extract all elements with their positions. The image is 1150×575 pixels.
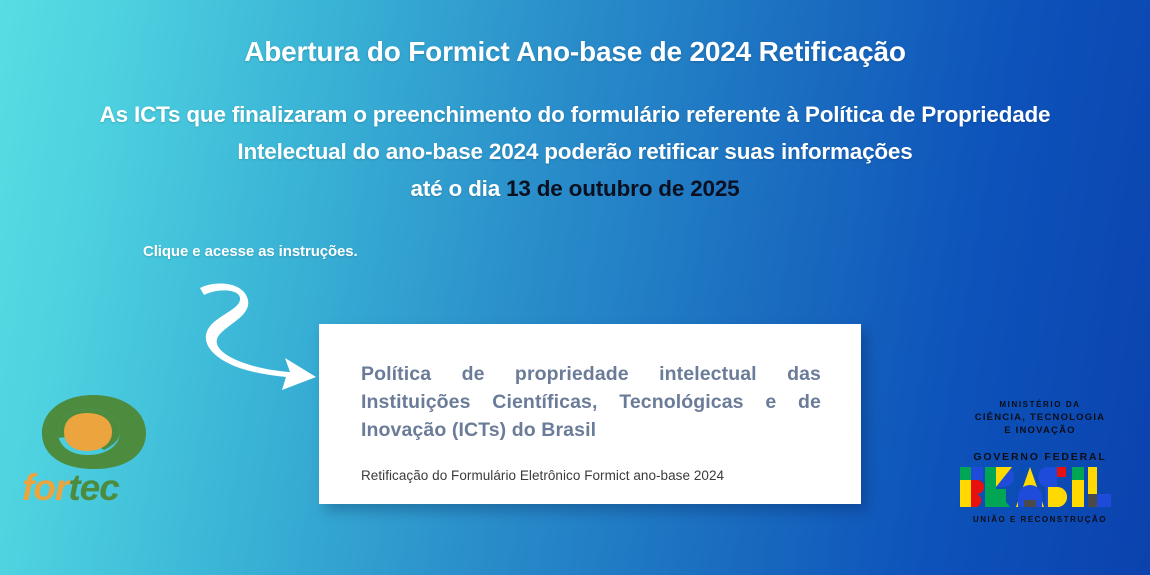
fortec-word-for: for xyxy=(22,467,68,508)
brasil-wordmark-icon xyxy=(960,467,1120,507)
deadline-prefix: até o dia xyxy=(411,176,507,201)
document-card-title: Política de propriedade intelectual das … xyxy=(361,360,821,444)
page-title: Abertura do Formict Ano-base de 2024 Ret… xyxy=(0,36,1150,68)
subheadline-line-2: Intelectual do ano-base 2024 poderão ret… xyxy=(0,133,1150,170)
document-card-subtitle: Retificação do Formulário Eletrônico For… xyxy=(361,468,821,483)
subheadline-line-1: As ICTs que finalizaram o preenchimento … xyxy=(0,96,1150,133)
ministry-line-2: CIÊNCIA, TECNOLOGIA xyxy=(950,411,1130,424)
fortec-wordmark: fortec xyxy=(22,466,182,510)
document-preview-card[interactable]: Política de propriedade intelectual das … xyxy=(319,324,861,504)
ministry-line-1: MINISTÉRIO DA xyxy=(950,398,1130,411)
gov-brasil-logo: MINISTÉRIO DA CIÊNCIA, TECNOLOGIA E INOV… xyxy=(950,398,1130,530)
fortec-logo: fortec xyxy=(22,393,182,523)
fortec-logomark-icon xyxy=(38,393,150,471)
governo-federal-label: GOVERNO FEDERAL xyxy=(950,450,1130,464)
gov-tagline: UNIÃO E RECONSTRUÇÃO xyxy=(950,514,1130,526)
subheadline-block: As ICTs que finalizaram o preenchimento … xyxy=(0,96,1150,207)
deadline-date: 13 de outubro de 2025 xyxy=(506,176,739,201)
click-instruction-label: Clique e acesse as instruções. xyxy=(143,243,358,260)
curved-arrow-icon xyxy=(186,276,336,396)
deadline-line: até o dia 13 de outubro de 2025 xyxy=(0,170,1150,207)
ministry-line-3: E INOVAÇÃO xyxy=(950,424,1130,437)
promo-banner: Abertura do Formict Ano-base de 2024 Ret… xyxy=(0,0,1150,575)
fortec-word-tec: tec xyxy=(68,467,118,508)
